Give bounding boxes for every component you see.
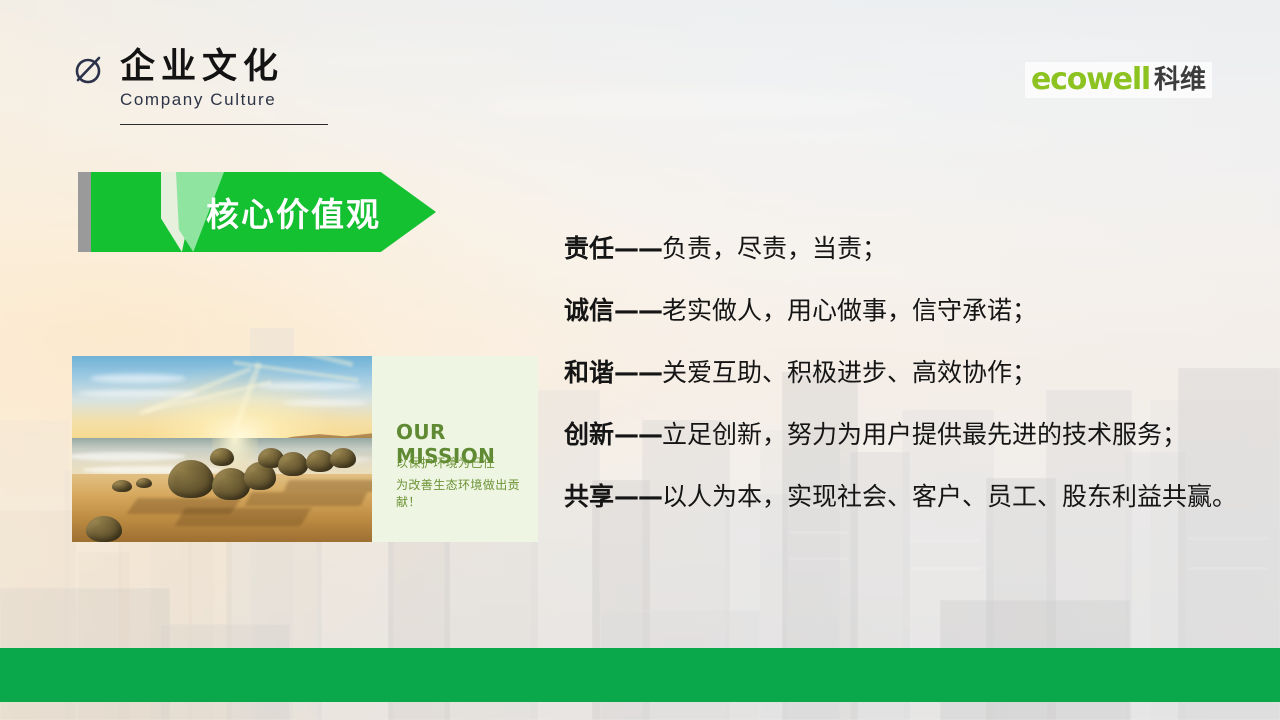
logo-wordmark: ecowell [1031, 65, 1150, 95]
mission-line-2: 为改善生态环境做出贡献！ [396, 476, 538, 510]
photo-boulder [330, 448, 356, 468]
photo-rock-shadow [245, 492, 368, 506]
value-item: 创新——立足创新，努力为用户提供最先进的技术服务； [564, 422, 1264, 447]
mission-card: OUR MISSION 以保护环境为己任 为改善生态环境做出贡献！ [72, 356, 538, 542]
page-header-row: 企业文化 [72, 48, 412, 86]
value-dash: —— [614, 234, 662, 263]
footer-bar [0, 648, 1280, 702]
photo-cloud [90, 374, 186, 383]
core-values-list: 责任——负责，尽责，当责； 诚信——老实做人，用心做事，信守承诺； 和谐——关爱… [564, 236, 1264, 509]
value-item: 和谐——关爱互助、积极进步、高效协作； [564, 360, 1264, 385]
photo-boulder [136, 478, 152, 488]
value-keyword: 创新 [564, 420, 614, 449]
photo-boulder [112, 480, 132, 492]
header-divider [120, 124, 328, 125]
photo-boulder [168, 460, 214, 498]
value-description: 立足创新，努力为用户提供最先进的技术服务； [662, 420, 1187, 449]
value-description: 老实做人，用心做事，信守承诺； [662, 296, 1037, 325]
page-header: 企业文化 Company Culture [72, 48, 412, 125]
company-logo: ecowell 科维 [1025, 62, 1212, 98]
banner-label: 核心价值观 [206, 172, 381, 252]
value-item: 诚信——老实做人，用心做事，信守承诺； [564, 298, 1264, 323]
value-keyword: 诚信 [564, 296, 614, 325]
value-description: 以人为本，实现社会、客户、员工、股东利益共赢。 [662, 482, 1237, 511]
photo-rock-shadow [284, 480, 372, 492]
value-item: 共享——以人为本，实现社会、客户、员工、股东利益共赢。 [564, 484, 1264, 509]
banner-gray-bar [78, 172, 91, 252]
photo-cloud [78, 390, 198, 397]
photo-sky [72, 356, 372, 440]
null-symbol-icon [72, 52, 106, 86]
value-dash: —— [614, 420, 662, 449]
photo-cloud [258, 382, 362, 390]
value-item: 责任——负责，尽责，当责； [564, 236, 1264, 261]
value-dash: —— [614, 482, 662, 511]
slide-canvas: 企业文化 Company Culture ecowell 科维 核心价值观 [0, 0, 1280, 720]
mission-text-panel: OUR MISSION 以保护环境为己任 为改善生态环境做出贡献！ [372, 356, 538, 542]
value-keyword: 责任 [564, 234, 614, 263]
value-dash: —— [614, 296, 662, 325]
page-title: 企业文化 [120, 49, 284, 86]
value-description: 关爱互助、积极进步、高效协作； [662, 358, 1037, 387]
mission-line-1: 以保护环境为己任 [396, 454, 495, 471]
value-keyword: 共享 [564, 482, 614, 511]
photo-boulder [86, 516, 122, 542]
value-keyword: 和谐 [564, 358, 614, 387]
logo-wordmark-cn: 科维 [1154, 67, 1206, 93]
photo-rock-shadow [175, 508, 311, 526]
photo-boulder [210, 448, 234, 466]
photo-wave-foam [72, 452, 186, 461]
photo-boulder [278, 452, 308, 476]
page-subtitle: Company Culture [120, 90, 412, 110]
mission-photo [72, 356, 372, 542]
photo-cloud [282, 400, 368, 406]
value-dash: —— [614, 358, 662, 387]
value-description: 负责，尽责，当责； [662, 234, 887, 263]
core-values-banner: 核心价值观 [78, 172, 436, 252]
